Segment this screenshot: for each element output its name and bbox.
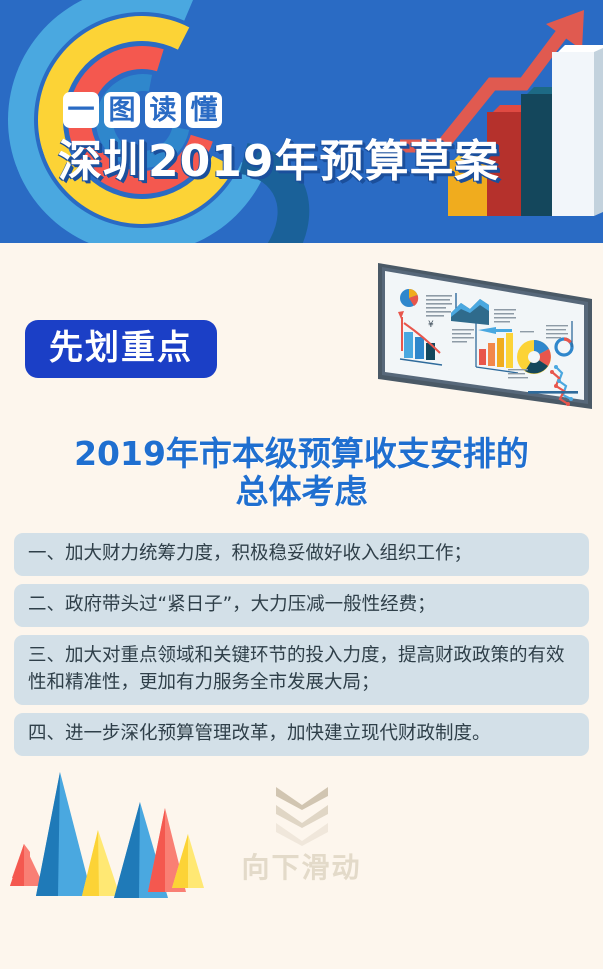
badge-char-3: 读 [145, 92, 181, 128]
list-item[interactable]: 二、政府带头过“紧日子”，大力压减一般性经费； [14, 584, 589, 627]
chevron-down-icon [271, 820, 333, 846]
scroll-down-hint[interactable]: 向下滑动 [0, 784, 603, 882]
key-points-list: 一、加大财力统筹力度，积极稳妥做好收入组织工作； 二、政府带头过“紧日子”，大力… [14, 533, 589, 756]
badge-char-4: 懂 [186, 92, 222, 128]
scroll-down-label: 向下滑动 [241, 854, 361, 882]
header-banner: 一 图 读 懂 深圳2019年预算草案 [0, 0, 603, 243]
list-item[interactable]: 三、加大对重点领域和关键环节的投入力度，提高财政政策的有效性和精准性，更加有力服… [14, 635, 589, 706]
page-heading: 2019年市本级预算收支安排的 总体考虑 [0, 435, 603, 512]
heading-line-2: 总体考虑 [0, 473, 603, 511]
list-item[interactable]: 四、进一步深化预算管理改革，加快建立现代财政制度。 [14, 713, 589, 756]
infographic-page: 一 图 读 懂 深圳2019年预算草案 先划重点 [0, 0, 603, 969]
presentation-board-illustration: ¥ [368, 255, 596, 415]
banner-badge: 一 图 读 懂 [63, 92, 222, 128]
section-pill-highlight[interactable]: 先划重点 [25, 320, 217, 378]
badge-char-2: 图 [104, 92, 140, 128]
list-item[interactable]: 一、加大财力统筹力度，积极稳妥做好收入组织工作； [14, 533, 589, 576]
badge-char-1: 一 [63, 92, 99, 128]
heading-line-1: 2019年市本级预算收支安排的 [74, 434, 529, 473]
bar-white-3d [552, 52, 594, 216]
svg-text:¥: ¥ [428, 320, 434, 330]
banner-title: 深圳2019年预算草案 [58, 140, 499, 184]
